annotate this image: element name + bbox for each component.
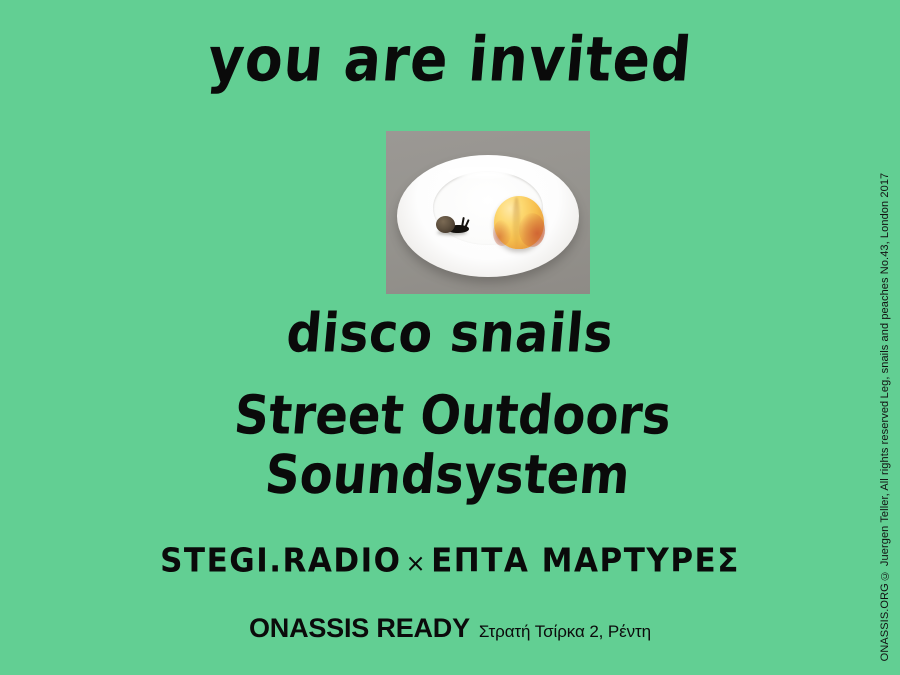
peach-crease [513, 197, 520, 247]
plate-with-snail-and-peach-photo [386, 131, 590, 294]
collab-epta-martyres: ΕΠΤΑ ΜΑΡΤΥΡΕΣ [431, 542, 740, 580]
snail-figure [436, 216, 470, 234]
headline-you-are-invited: you are invited [0, 23, 900, 95]
plate-highlight [445, 166, 517, 178]
event-title: Street Outdoors Soundsystem [0, 387, 900, 506]
collab-separator-icon: × [402, 548, 432, 577]
title-disco-snails: disco snails [0, 302, 900, 365]
peach-blush [519, 213, 545, 247]
snail-shell [436, 216, 455, 233]
photo-figure [386, 131, 590, 294]
peach-fruit [494, 196, 544, 249]
event-title-line-1: Street Outdoors [0, 387, 900, 446]
credit-copyright: © Juergen Teller, All rights reserved [879, 400, 892, 581]
credits-block: Leg, snails and peaches No.43, London 20… [879, 173, 892, 661]
venue-address: Στρατή Τσίρκα 2, Ρέντη [479, 622, 651, 641]
venue-name: ONASSIS READY [249, 613, 470, 643]
poster-canvas: you are invited disco sn [0, 0, 900, 675]
peach-blush [493, 220, 511, 246]
collaboration-line: STEGI.RADIO×ΕΠΤΑ ΜΑΡΤΥΡΕΣ [0, 542, 900, 580]
credit-website: ONASSIS.ORG [879, 583, 892, 661]
plate-shape [397, 155, 579, 277]
venue-line: ONASSIS READYΣτρατή Τσίρκα 2, Ρέντη [0, 613, 900, 644]
event-title-line-2: Soundsystem [0, 446, 900, 505]
credit-artwork-title: Leg, snails and peaches No.43, London 20… [879, 173, 892, 399]
collab-stegi-radio: STEGI.RADIO [160, 542, 401, 580]
